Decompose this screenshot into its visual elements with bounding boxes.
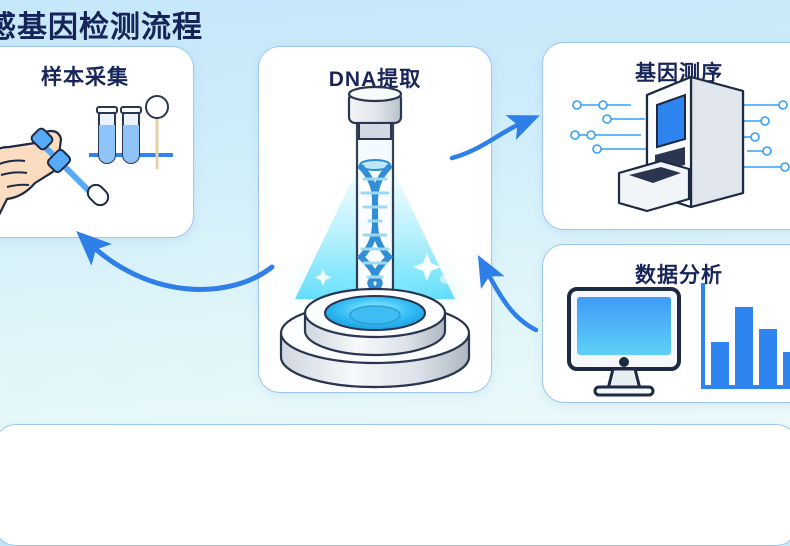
bar-chart-icon bbox=[701, 283, 790, 389]
chart-bar bbox=[735, 307, 753, 387]
test-tube-icon bbox=[97, 107, 117, 163]
arrow-dna-to-sample bbox=[90, 244, 272, 289]
cotton-swab-icon bbox=[146, 96, 168, 169]
data-analysis-illustration bbox=[543, 245, 790, 402]
monitor-icon bbox=[569, 289, 679, 395]
pedestal-icon bbox=[281, 289, 469, 387]
sequencer-screen-icon bbox=[657, 95, 685, 147]
arrow-data-to-dna bbox=[486, 270, 536, 330]
gene-sequencing-illustration bbox=[543, 43, 790, 229]
dna-extraction-illustration bbox=[259, 47, 491, 392]
circuit-lines-left-icon bbox=[571, 101, 649, 153]
test-tube-icon bbox=[121, 107, 141, 163]
card-gene-sequencing[interactable]: 基因测序 bbox=[542, 42, 790, 230]
chart-bar bbox=[759, 329, 777, 387]
card-data-analysis[interactable]: 数据分析 bbox=[542, 244, 790, 403]
sample-collection-illustration bbox=[0, 47, 193, 237]
page-title: 感基因检测流程 bbox=[0, 2, 203, 46]
chart-bar bbox=[711, 342, 729, 387]
flow-diagram-canvas: 感基因检测流程 样本采集 bbox=[0, 0, 790, 444]
card-sample-collection[interactable]: 样本采集 bbox=[0, 46, 194, 238]
card-dna-extraction[interactable]: DNA提取 bbox=[258, 46, 492, 393]
chart-bar bbox=[783, 352, 790, 387]
sequencer-machine-icon bbox=[619, 77, 743, 211]
card-next-section-partial[interactable] bbox=[0, 424, 790, 546]
hand-icon bbox=[0, 131, 61, 235]
monitor-screen-icon bbox=[577, 297, 671, 355]
